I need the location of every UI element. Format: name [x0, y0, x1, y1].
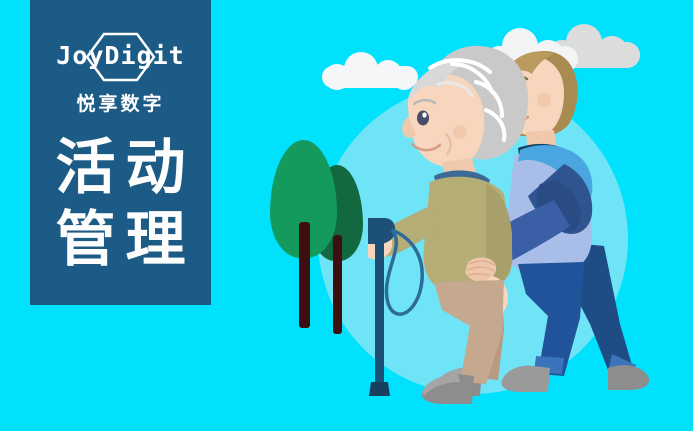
poster-canvas: JoyDigit 悦享数字 活动 管理 — [0, 0, 693, 431]
logo-wordmark: JoyDigit — [30, 41, 211, 71]
page-title-line1: 活动 — [30, 132, 211, 204]
logo-mark: JoyDigit — [30, 30, 211, 84]
tree-trunk — [299, 222, 310, 328]
walking-cane-icon — [368, 218, 422, 396]
tree-trunk — [333, 235, 342, 334]
page-title: 活动 管理 — [30, 132, 211, 276]
page-title-line2: 管理 — [30, 204, 211, 276]
title-panel: JoyDigit 悦享数字 活动 管理 — [30, 0, 211, 305]
logo-block: JoyDigit 悦享数字 — [30, 30, 211, 116]
logo-chinese-name: 悦享数字 — [30, 89, 211, 116]
walking-figures-illustration — [368, 24, 668, 404]
